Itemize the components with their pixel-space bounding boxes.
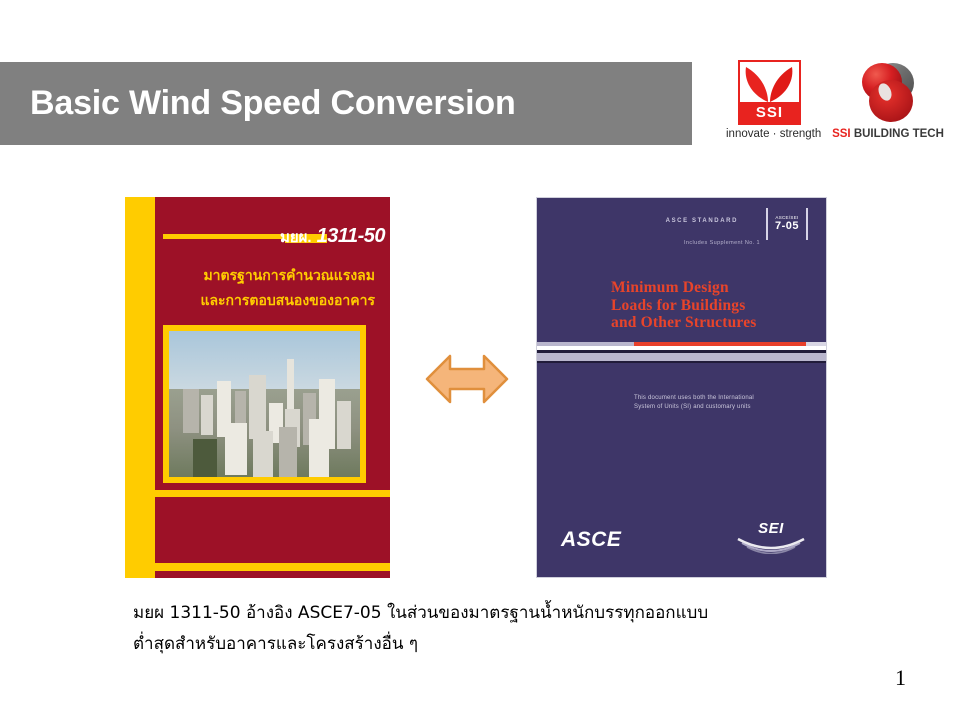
thai-standard-book-cover: มยผ.1311-50 มาตรฐานการคำนวณแรงลม และการต… (125, 197, 390, 578)
caption-line-2: ต่ำสุดสำหรับอาคารและโครงสร้างอื่น ๆ (133, 629, 873, 660)
photo-building (225, 423, 247, 475)
slide-canvas: Basic Wind Speed Conversion SSI innovate… (0, 0, 960, 720)
photo-building (309, 419, 329, 477)
ssi-building-tech-wordmark: SSI BUILDING TECH (822, 128, 954, 140)
ssi-logo: SSI innovate · strength (726, 60, 814, 155)
title-banner: Basic Wind Speed Conversion (0, 62, 692, 145)
page-number: 1 (895, 665, 906, 691)
sei-logo: SEI (736, 520, 806, 560)
caption-line-1: มยผ 1311-50 อ้างอิง ASCE7-05 ในส่วนของมา… (133, 603, 708, 623)
book-code-number: 1311-50 (317, 225, 385, 247)
asce-title-line-2: Loads for Buildings (611, 297, 826, 315)
book-subtitle-line-1: มาตรฐานการคำนวณแรงลม (160, 265, 375, 287)
sbt-suffix: BUILDING TECH (851, 128, 944, 140)
photo-building (279, 427, 297, 477)
asce-standard-label: ASCE STANDARD (666, 218, 738, 224)
logo-zone: SSI innovate · strength (718, 60, 954, 155)
spiral-coil-icon (852, 60, 920, 126)
photo-landmark-tower (287, 359, 294, 411)
asce-book-title: Minimum Design Loads for Buildings and O… (611, 279, 826, 332)
book-left-accent-strip (125, 197, 155, 578)
asce-publisher-wordmark: ASCE (561, 528, 621, 552)
photo-building (337, 401, 351, 449)
ssi-building-tech-logo: SSI BUILDING TECH (822, 60, 954, 155)
sbt-prefix: SSI (832, 128, 851, 140)
book-code-prefix: มยผ. (280, 229, 312, 246)
photo-greenery (193, 439, 217, 477)
sei-arc-icon (736, 537, 806, 554)
asce-badge-number: 7-05 (768, 220, 806, 233)
ssi-logo-wordmark: SSI (740, 102, 799, 123)
leaf-v-icon (742, 63, 796, 103)
photo-building (253, 431, 273, 477)
page-title: Basic Wind Speed Conversion (30, 84, 516, 123)
photo-building (201, 395, 213, 435)
book-footer-panel: กรมโยธาธิการและผังเมือง กระทรวงมหาดไทย พ… (155, 497, 390, 559)
book-bottom-panel (155, 571, 390, 578)
photo-building (249, 375, 266, 439)
book-subtitle-line-2: และการตอบสนองของอาคาร (160, 290, 375, 312)
asce-title-line-1: Minimum Design (611, 279, 826, 297)
bangkok-cityscape-photo (163, 325, 366, 483)
book-bottom-accent-strip (155, 563, 390, 571)
photo-building (183, 389, 199, 433)
double-headed-arrow (424, 348, 510, 410)
ssi-tagline: innovate · strength (726, 128, 814, 140)
asce-band-lavender (537, 353, 827, 361)
sei-wordmark: SEI (736, 520, 806, 537)
asce-edition-badge: ASCE/SEI 7-05 (766, 208, 808, 240)
asce-standard-book-cover: ASCE STANDARD Includes Supplement No. 1 … (536, 197, 827, 578)
asce-title-line-3: and Other Structures (611, 314, 826, 332)
slide-caption: มยผ 1311-50 อ้างอิง ASCE7-05 ในส่วนของมา… (133, 598, 873, 660)
asce-supplement-label: Includes Supplement No. 1 (684, 240, 760, 246)
asce-units-note: This document uses both the Internationa… (634, 394, 764, 411)
book-code: มยผ.1311-50 (245, 225, 385, 249)
